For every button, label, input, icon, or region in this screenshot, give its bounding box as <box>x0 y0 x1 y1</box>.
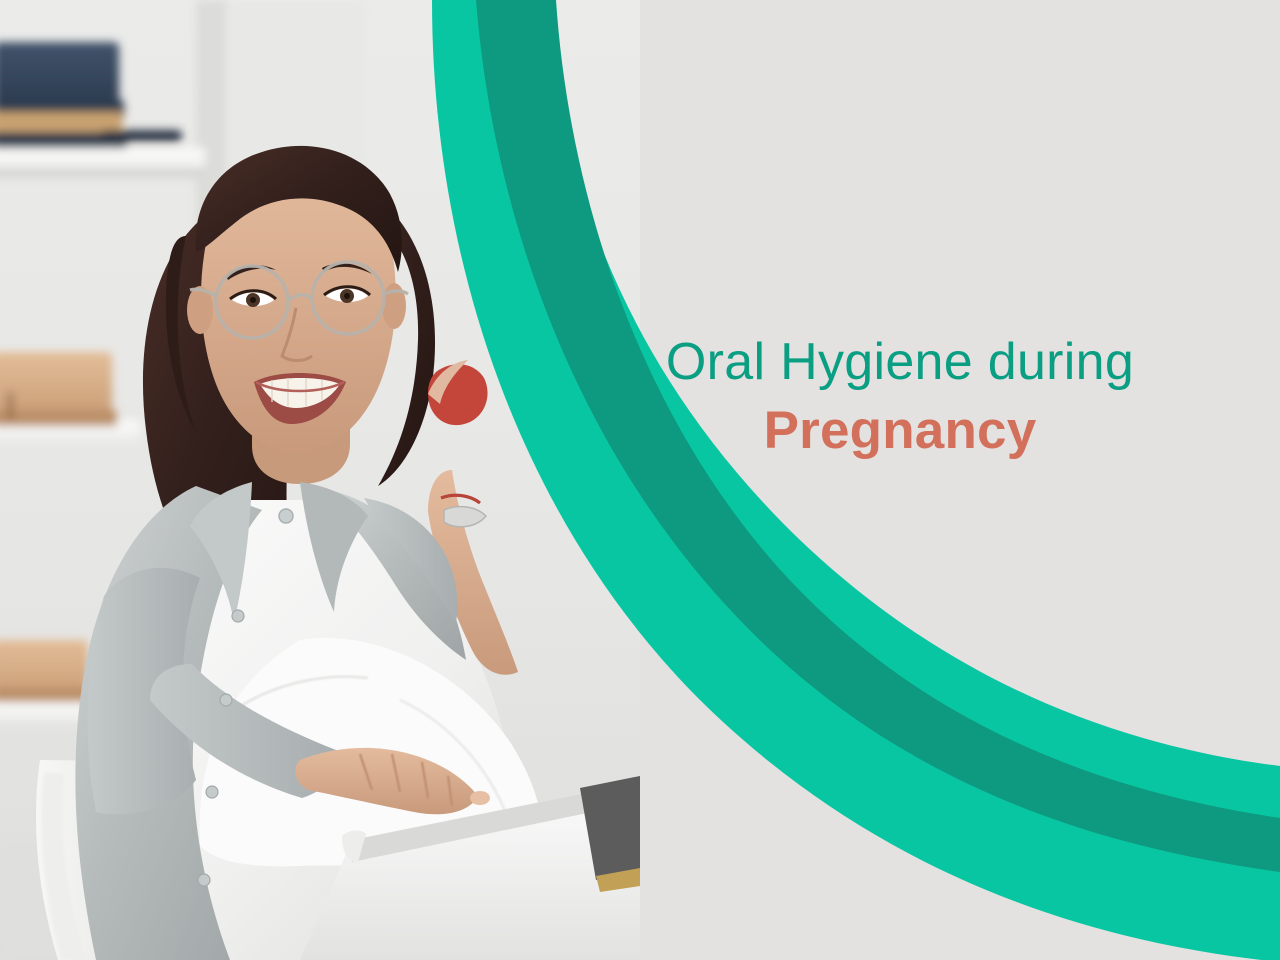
collar-button <box>279 509 293 523</box>
pupil-left <box>250 297 256 303</box>
hero-photo-illustration <box>0 0 640 960</box>
pupil-right <box>344 293 350 299</box>
headline-block: Oral Hygiene during Pregnancy <box>560 336 1240 457</box>
promo-banner: Oral Hygiene during Pregnancy <box>0 0 1280 960</box>
thumb-tip <box>470 791 490 805</box>
hero-photo <box>0 0 640 960</box>
headline-line-2: Pregnancy <box>560 404 1240 457</box>
headline-line-1: Oral Hygiene during <box>560 336 1240 388</box>
